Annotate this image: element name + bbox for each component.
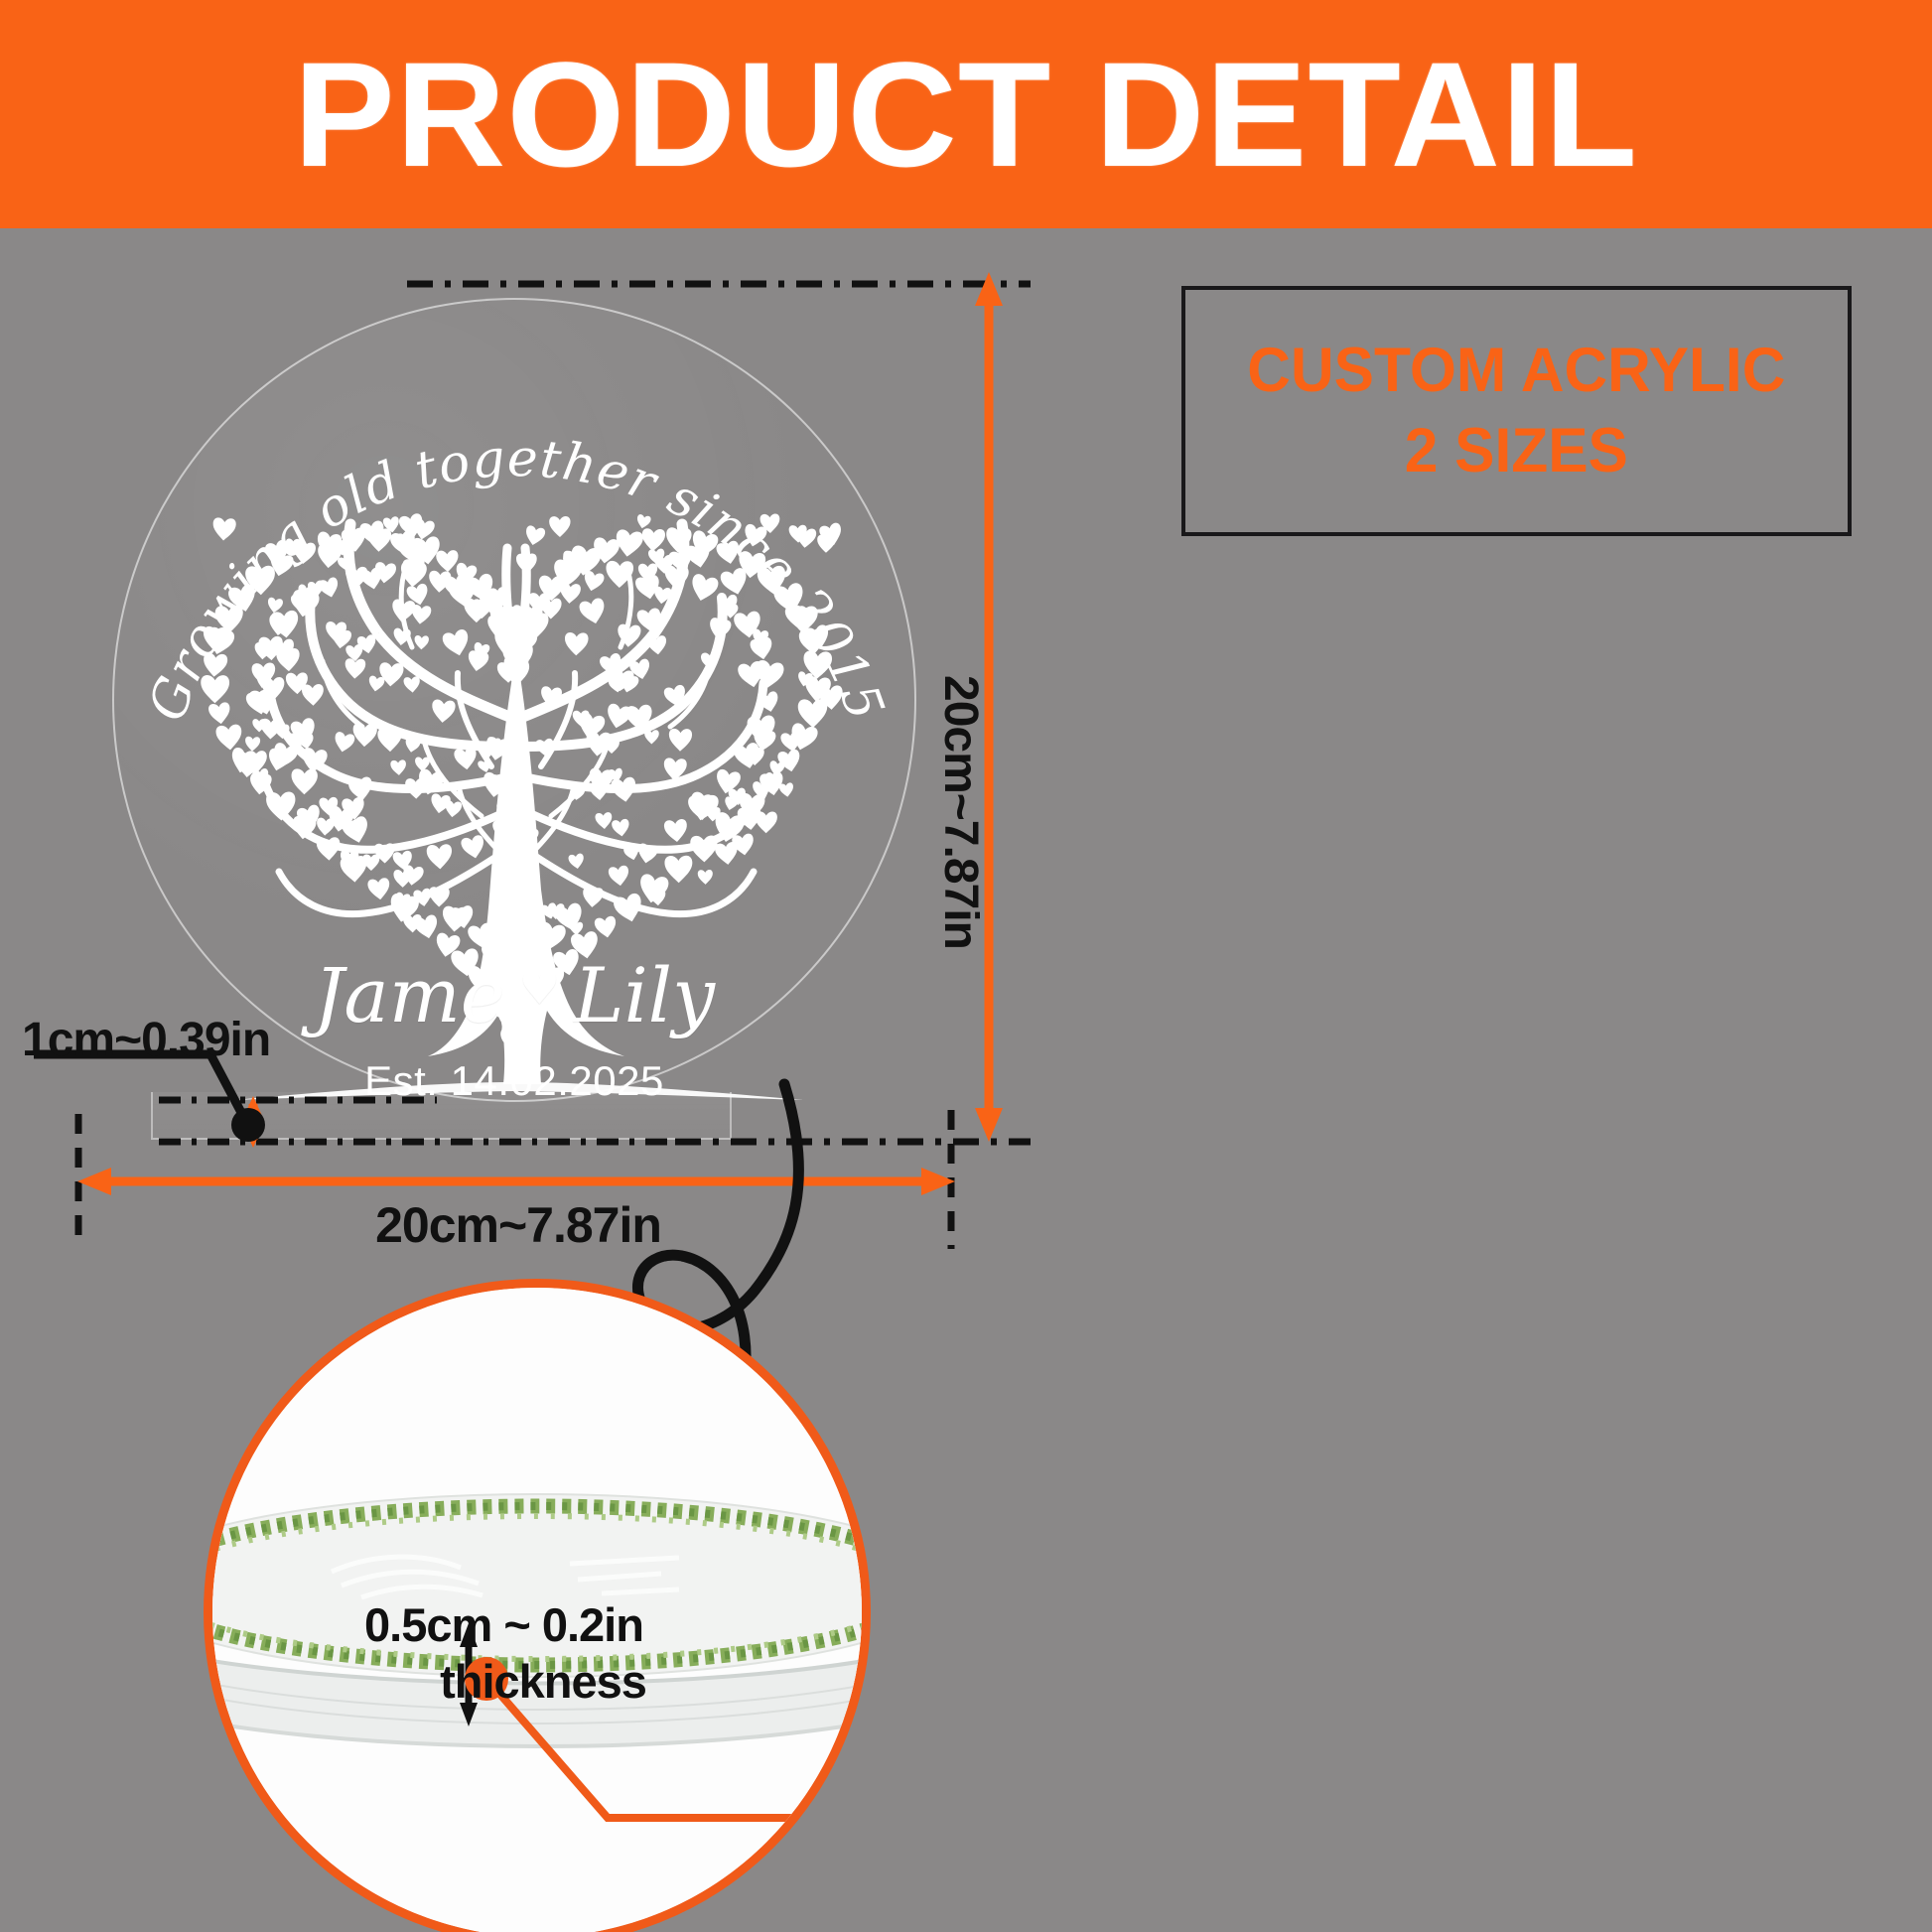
page-title: PRODUCT DETAIL (294, 40, 1638, 189)
thickness-label: 0.5cm ~ 0.2in thickness (364, 1596, 722, 1711)
height-arrow-top (975, 272, 1003, 306)
width-arrow-left (77, 1168, 111, 1195)
width-dimension-label: 20cm~7.87in (81, 1196, 955, 1254)
thickness-value: 0.5cm ~ 0.2in (364, 1598, 643, 1651)
custom-acrylic-callout-box: CUSTOM ACRYLIC 2 SIZES (1181, 286, 1852, 536)
height-arrow-bottom (975, 1108, 1003, 1142)
page-header-banner: PRODUCT DETAIL (0, 0, 1932, 228)
name-left: Jame (314, 951, 505, 1039)
name-right: Lily (574, 951, 715, 1039)
width-arrow-right (921, 1168, 955, 1195)
acrylic-label-line1: CUSTOM ACRYLIC (1247, 331, 1785, 411)
acrylic-label-line2: 2 SIZES (1405, 411, 1628, 491)
product-detail-page: PRODUCT DETAIL CUSTOM ACRYLIC 2 SIZES Gr… (0, 0, 1932, 1932)
base-dimension-label: 1cm~0.39in (22, 1013, 270, 1067)
height-dimension-label: 20cm~7.87in (933, 675, 988, 949)
heart-icon: ♥ (519, 961, 560, 1015)
thickness-word: thickness (364, 1653, 722, 1710)
